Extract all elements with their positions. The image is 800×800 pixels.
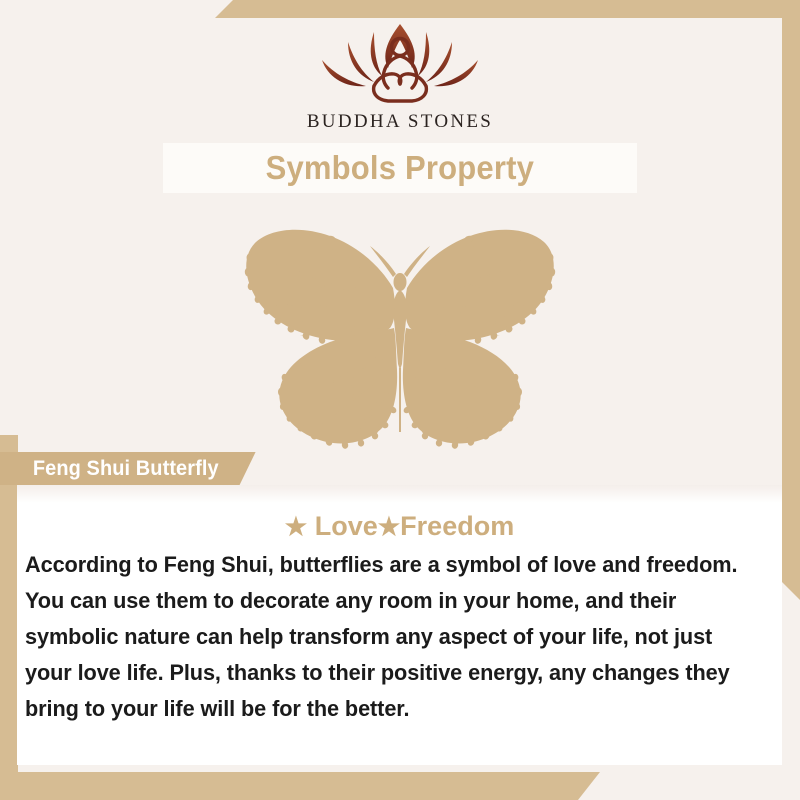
keyword-love: Love: [307, 511, 378, 541]
brand-logo-lockup: BUDDHA STONES: [307, 16, 493, 133]
page-title: Symbols Property: [266, 149, 534, 187]
frame-bottom-accent: [0, 772, 600, 800]
brand-header: BUDDHA STONES: [0, 0, 800, 143]
illustration-area: [0, 205, 800, 475]
title-banner: Symbols Property: [163, 143, 637, 193]
section-tag-label: Feng Shui Butterfly: [33, 457, 219, 481]
butterfly-icon: [230, 220, 570, 460]
star-icon-left: ★: [285, 513, 307, 541]
keywords-line: ★ Love★Freedom: [17, 511, 782, 542]
content-card: ★ Love★Freedom According to Feng Shui, b…: [17, 485, 782, 765]
description-paragraph: According to Feng Shui, butterflies are …: [25, 547, 751, 727]
keyword-freedom: Freedom: [400, 511, 514, 541]
frame-left-accent: [0, 435, 18, 800]
brand-name: BUDDHA STONES: [307, 111, 493, 133]
poster-root: BUDDHA STONES Symbols Property: [0, 0, 800, 800]
lotus-meditation-figure-icon: [312, 16, 488, 108]
card-top-fade: [17, 485, 782, 503]
star-icon-middle: ★: [378, 513, 400, 541]
section-tag-banner: Feng Shui Butterfly: [0, 452, 256, 485]
